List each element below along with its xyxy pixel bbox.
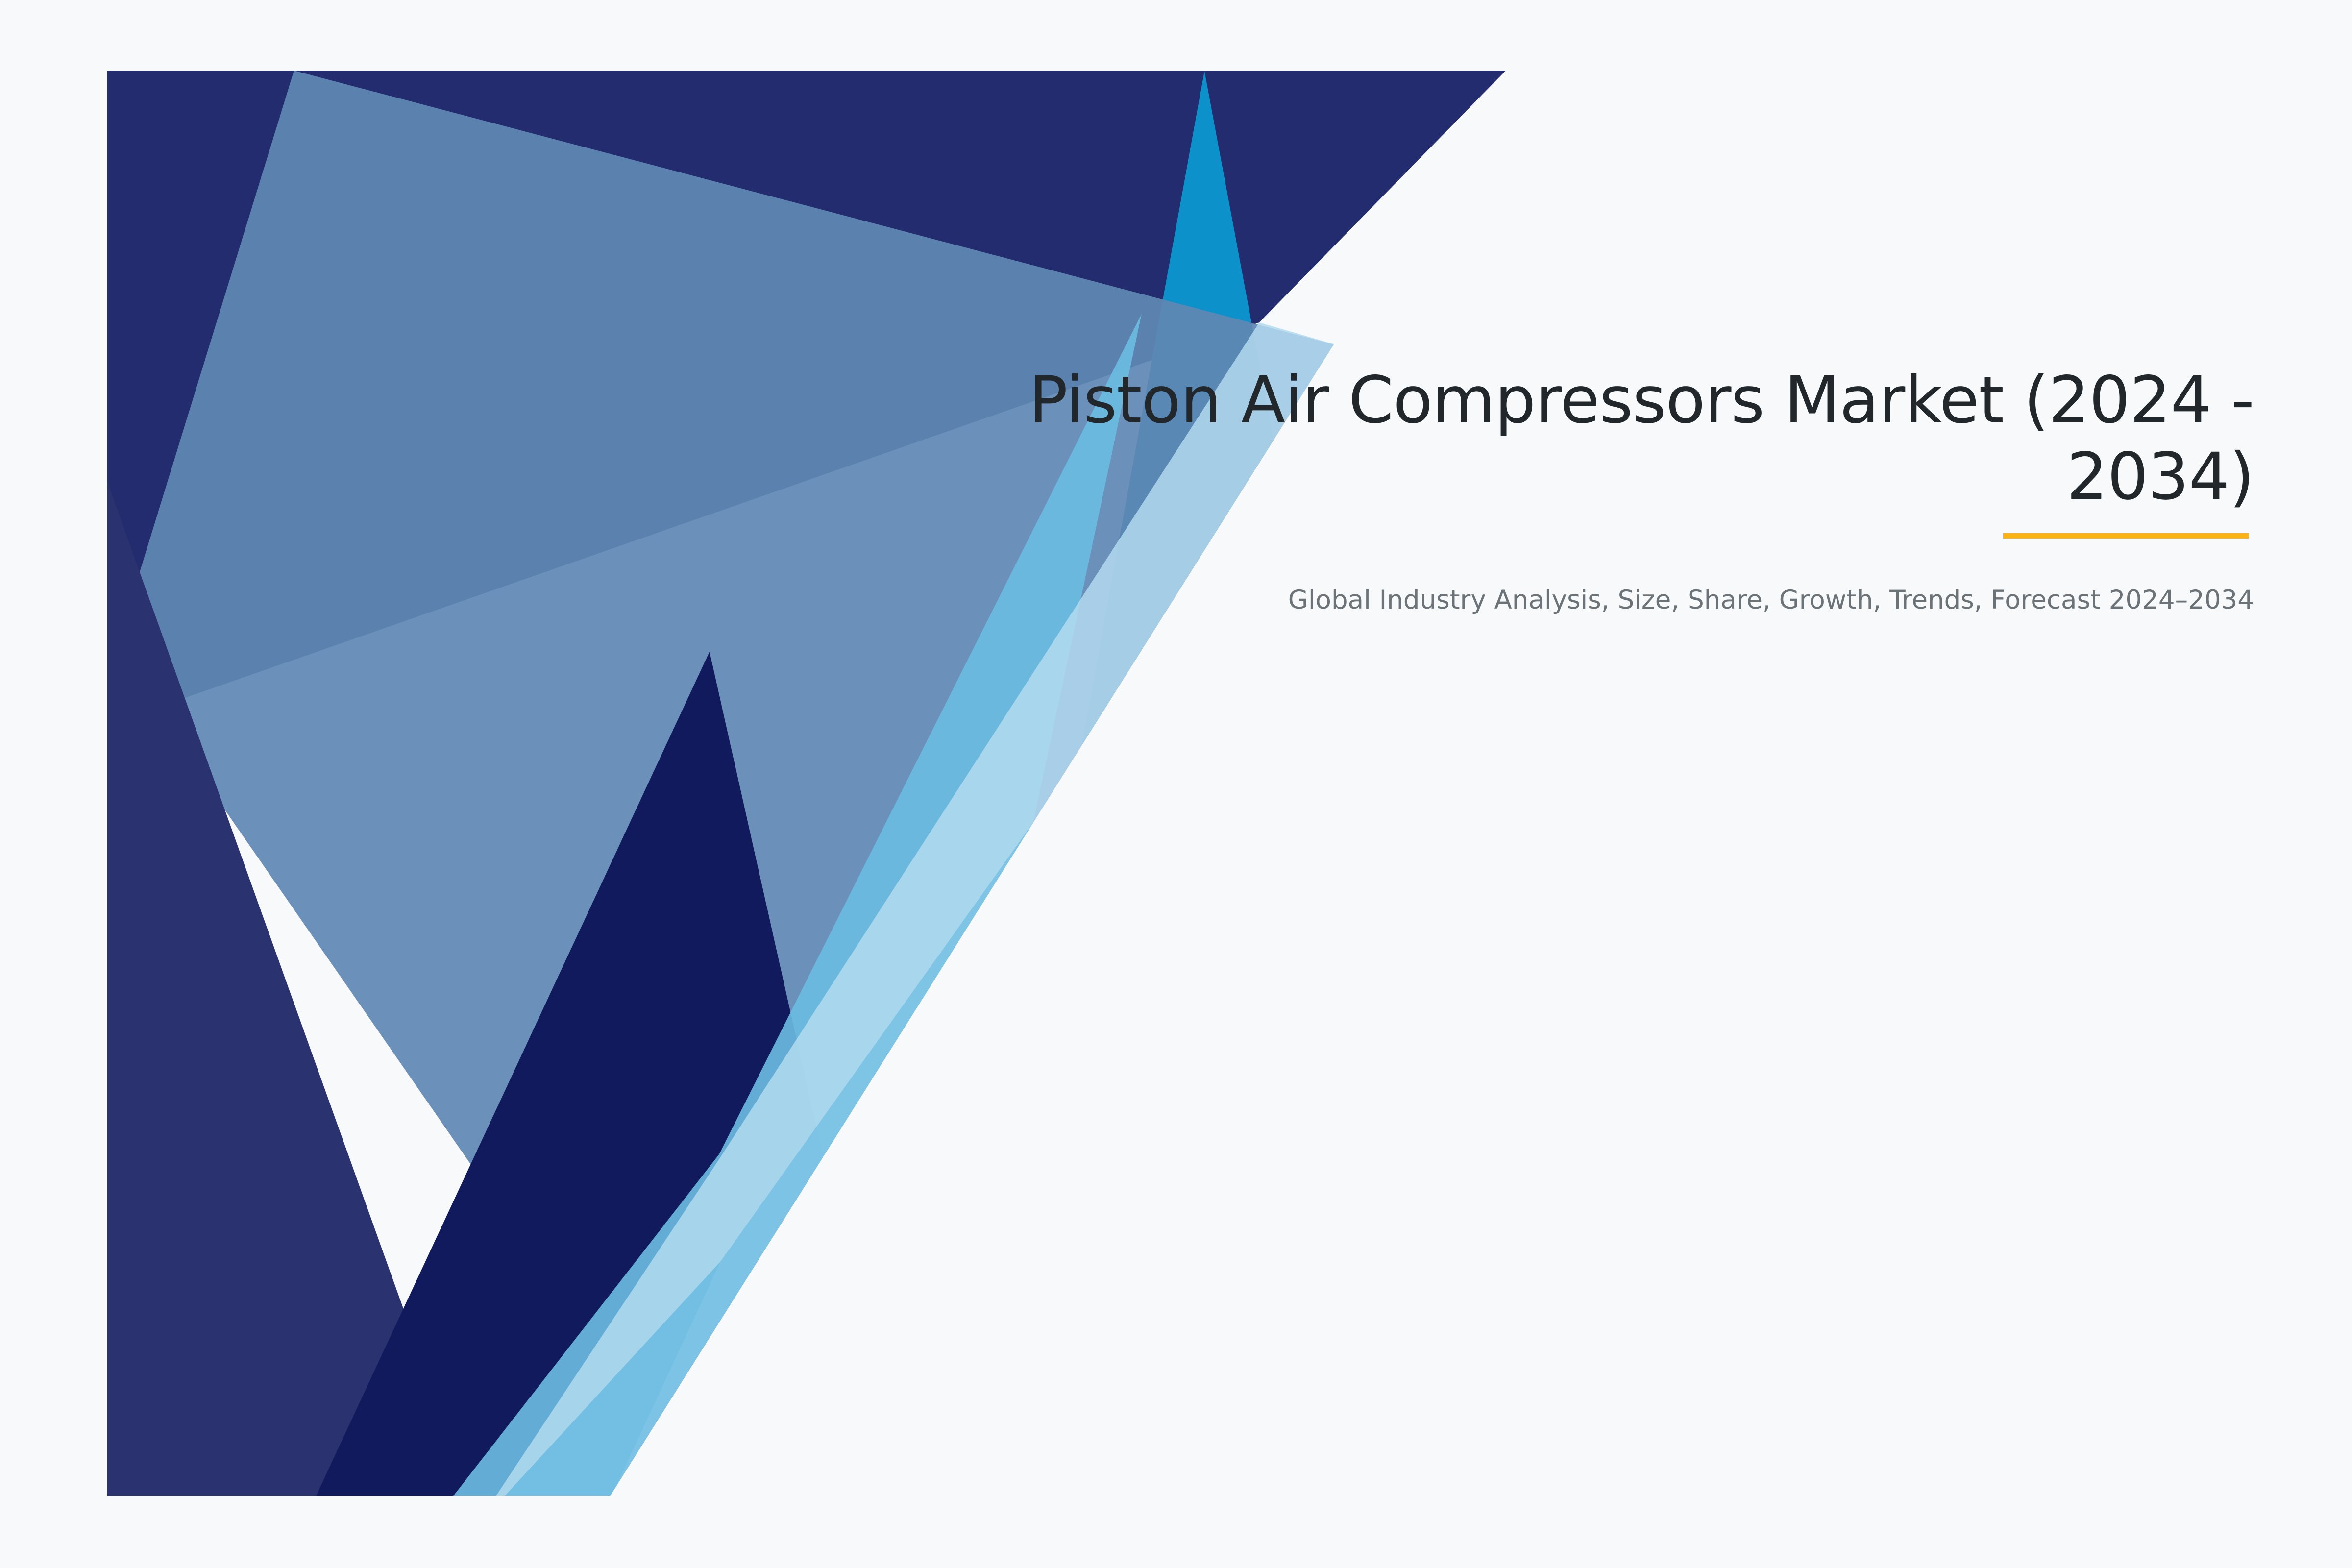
page-subtitle: Global Industry Analysis, Size, Share, G… bbox=[833, 515, 2254, 618]
cover-text-block: Piston Air Compressors Market (2024 - 20… bbox=[833, 363, 2254, 618]
page-title: Piston Air Compressors Market (2024 - 20… bbox=[833, 363, 2254, 515]
title-accent-rule bbox=[2003, 533, 2249, 539]
cover-artwork bbox=[0, 0, 2352, 1568]
